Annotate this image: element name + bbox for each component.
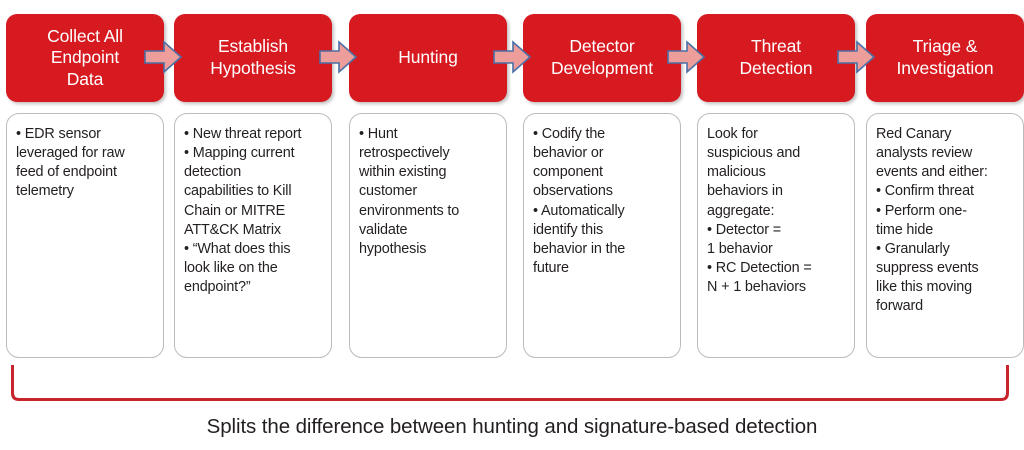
stage-card-detector-development: • Codify the behavior or component obser… (523, 113, 681, 358)
stage-card-body: • Codify the behavior or component obser… (533, 125, 671, 278)
stage-header-establish-hypothesis[interactable]: Establish Hypothesis (174, 14, 332, 102)
stage-card-hunting: • Hunt retrospectively within existing c… (349, 113, 507, 358)
stage-header-triage-and-investigation[interactable]: Triage & Investigation (866, 14, 1024, 102)
arrow-right-icon (143, 40, 183, 74)
stage-column-collect-all-endpoint-data: Collect All Endpoint Data • EDR sensor l… (6, 14, 164, 358)
stage-column-triage-and-investigation: Triage & Investigation Red Canary analys… (866, 14, 1024, 358)
stage-header-label: Detector Development (551, 36, 653, 79)
summary-bracket (10, 364, 1010, 402)
stage-header-label: Triage & Investigation (897, 36, 994, 79)
stage-card-body: • Hunt retrospectively within existing c… (359, 125, 497, 259)
stage-header-collect-all-endpoint-data[interactable]: Collect All Endpoint Data (6, 14, 164, 102)
arrow-right-icon (666, 40, 706, 74)
arrow-right-icon (836, 40, 876, 74)
stage-card-body: Look for suspicious and malicious behavi… (707, 125, 845, 297)
stage-header-label: Threat Detection (739, 36, 812, 79)
stage-column-establish-hypothesis: Establish Hypothesis • New threat report… (174, 14, 332, 358)
arrow-right-icon (318, 40, 358, 74)
stage-card-body: • EDR sensor leveraged for raw feed of e… (16, 125, 154, 202)
stage-column-threat-detection: Threat Detection Look for suspicious and… (697, 14, 855, 358)
stage-header-hunting[interactable]: Hunting (349, 14, 507, 102)
stage-header-label: Collect All Endpoint Data (47, 26, 123, 91)
stage-card-establish-hypothesis: • New threat report • Mapping current de… (174, 113, 332, 358)
stage-card-triage-and-investigation: Red Canary analysts review events and ei… (866, 113, 1024, 358)
stage-card-body: Red Canary analysts review events and ei… (876, 125, 1014, 317)
process-flow-diagram: Collect All Endpoint Data • EDR sensor l… (0, 0, 1024, 450)
stage-card-collect-all-endpoint-data: • EDR sensor leveraged for raw feed of e… (6, 113, 164, 358)
stage-card-threat-detection: Look for suspicious and malicious behavi… (697, 113, 855, 358)
stage-column-hunting: Hunting • Hunt retrospectively within ex… (349, 14, 507, 358)
stage-header-label: Hunting (398, 47, 458, 69)
arrow-right-icon (492, 40, 532, 74)
stage-column-detector-development: Detector Development • Codify the behavi… (523, 14, 681, 358)
stage-header-label: Establish Hypothesis (210, 36, 296, 79)
stage-header-threat-detection[interactable]: Threat Detection (697, 14, 855, 102)
stage-header-detector-development[interactable]: Detector Development (523, 14, 681, 102)
stage-card-body: • New threat report • Mapping current de… (184, 125, 322, 297)
diagram-caption: Splits the difference between hunting an… (0, 415, 1024, 440)
